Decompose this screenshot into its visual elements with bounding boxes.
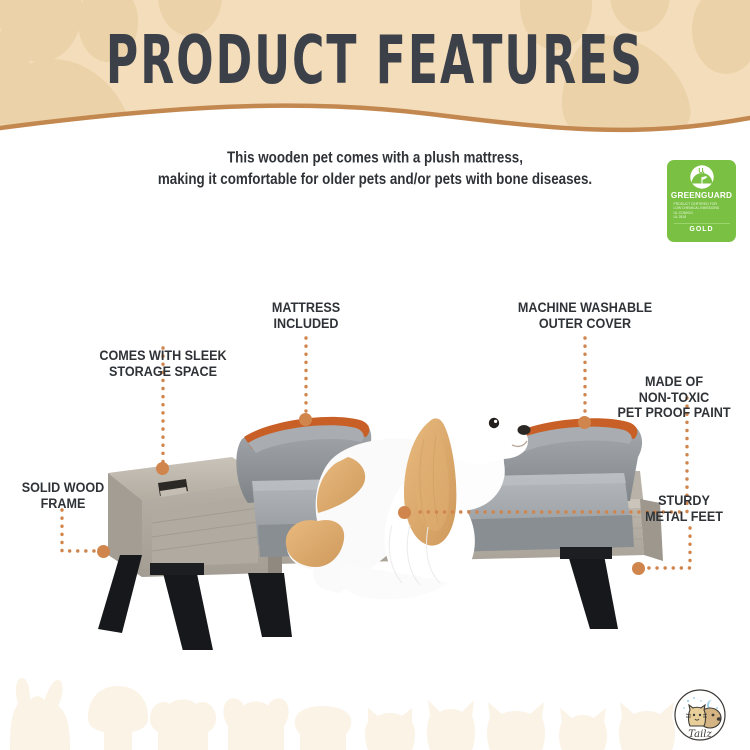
connector-sturdy-metal-feet bbox=[645, 528, 690, 568]
callout-label-mattress-included: MATTRESS INCLUDED bbox=[236, 300, 377, 331]
dot-solid-wood-frame bbox=[97, 545, 110, 558]
bottom-silhouette-band bbox=[0, 660, 750, 750]
connector-solid-wood-frame bbox=[62, 510, 96, 551]
dot-sturdy-metal-feet bbox=[632, 562, 645, 575]
dot-non-toxic-paint bbox=[398, 506, 411, 519]
tailz-logo: Tailz bbox=[668, 688, 732, 746]
callout-label-storage-space: COMES WITH SLEEK STORAGE SPACE bbox=[69, 348, 257, 379]
cat-icon bbox=[686, 705, 707, 726]
callout-label-solid-wood-frame: SOLID WOOD FRAME bbox=[4, 480, 122, 511]
brand-name: Tailz bbox=[688, 729, 712, 740]
callout-label-non-toxic-paint: MADE OF NON-TOXIC PET PROOF PAINT bbox=[604, 374, 743, 421]
dot-machine-washable bbox=[578, 416, 591, 429]
callout-label-sturdy-metal-feet: STURDY METAL FEET bbox=[624, 493, 744, 524]
infographic-canvas: PRODUCT FEATURES This wooden pet comes w… bbox=[0, 0, 750, 750]
callout-label-machine-washable: MACHINE WASHABLE OUTER COVER bbox=[491, 300, 679, 331]
dot-storage-space bbox=[156, 462, 169, 475]
dot-mattress-included bbox=[299, 413, 312, 426]
